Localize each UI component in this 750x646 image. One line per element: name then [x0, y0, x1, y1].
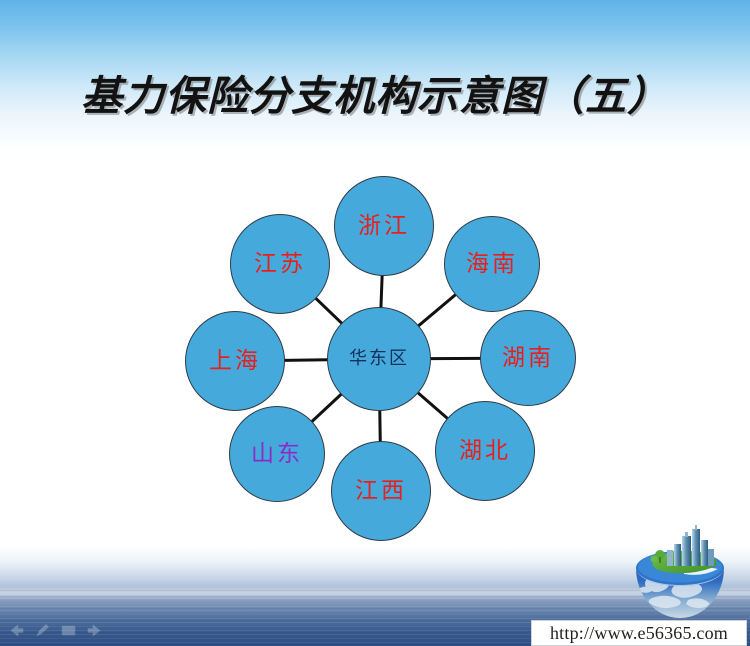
slideshow-nav-icons[interactable]: [8, 623, 103, 638]
diagram-edge: [311, 394, 341, 422]
diagram-node-branch[interactable]: 浙江: [334, 176, 434, 276]
diagram-node-branch[interactable]: 江苏: [230, 214, 330, 314]
diagram-node-center[interactable]: 华东区: [327, 307, 431, 411]
node-label: 湖北: [459, 440, 511, 463]
slide-menu-icon[interactable]: [60, 623, 77, 638]
diagram-node-branch[interactable]: 江西: [331, 441, 431, 541]
node-label: 江西: [355, 480, 407, 503]
diagram-edge: [418, 392, 448, 418]
diagram-node-branch[interactable]: 海南: [444, 216, 540, 312]
node-label: 湖南: [502, 347, 554, 370]
diagram-edge: [284, 360, 328, 361]
diagram-edge: [418, 294, 456, 326]
diagram-node-branch[interactable]: 山东: [229, 406, 325, 502]
node-label: 海南: [466, 253, 518, 276]
node-label: 华东区: [349, 350, 409, 368]
diagram-node-branch[interactable]: 湖北: [435, 401, 535, 501]
next-slide-icon[interactable]: [86, 623, 103, 638]
diagram-edge: [381, 275, 382, 308]
website-url-bar[interactable]: http://www.e56365.com: [531, 620, 747, 646]
pen-annotation-icon[interactable]: [34, 623, 51, 638]
diagram-node-branch[interactable]: 湖南: [480, 310, 576, 406]
previous-slide-icon[interactable]: [8, 623, 25, 638]
diagram-edge: [315, 298, 342, 324]
globe-illustration: [622, 524, 738, 632]
presentation-slide: 基力保险分支机构示意图（五） 浙江海南湖南湖北江西山东上海江苏华东区: [0, 0, 750, 646]
diagram-node-branch[interactable]: 上海: [185, 311, 285, 411]
node-label: 江苏: [254, 253, 306, 276]
node-label: 浙江: [358, 215, 410, 238]
node-label: 上海: [209, 350, 261, 373]
earth-city-globe-logo: [622, 524, 738, 632]
node-label: 山东: [251, 443, 303, 466]
website-url-text: http://www.e56365.com: [550, 623, 728, 644]
